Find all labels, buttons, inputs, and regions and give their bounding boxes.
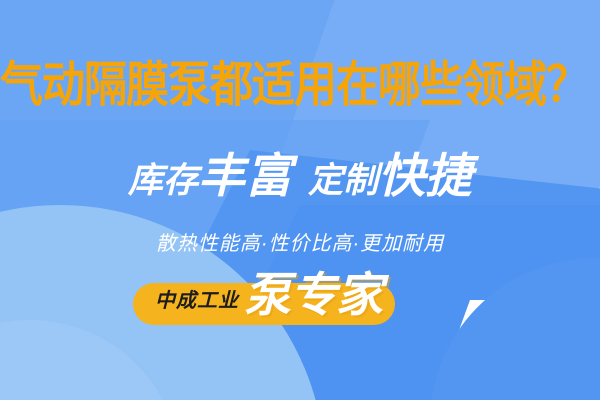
brand-badge-slogan: 泵专家	[244, 271, 382, 318]
subline-part-small-2: 定制	[308, 161, 378, 200]
subline-part-big-2: 快捷	[378, 149, 472, 202]
banner-content: 气动隔膜泵都适用在哪些领域？ 库存丰富定制快捷 散热性能高·性价比高·更加耐用 …	[0, 0, 600, 400]
banner-subline: 库存丰富定制快捷	[0, 152, 600, 199]
subline-part-big-1: 丰富	[198, 149, 292, 202]
banner-headline: 气动隔膜泵都适用在哪些领域？	[0, 62, 600, 110]
promotional-banner: 气动隔膜泵都适用在哪些领域？ 库存丰富定制快捷 散热性能高·性价比高·更加耐用 …	[0, 0, 600, 400]
subline-part-small-1: 库存	[128, 161, 198, 200]
banner-tagline: 散热性能高·性价比高·更加耐用	[0, 234, 600, 254]
brand-badge-company-name: 中成工业	[155, 291, 239, 311]
